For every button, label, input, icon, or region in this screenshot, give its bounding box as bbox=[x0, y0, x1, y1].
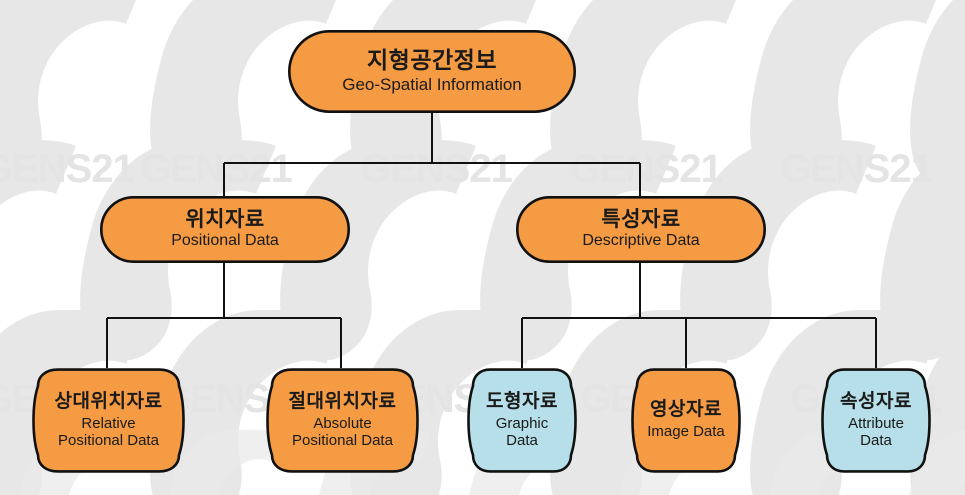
node-label-en: Geo-Spatial Information bbox=[294, 75, 570, 95]
node-graphic-data[interactable]: 도형자료 Graphic Data bbox=[455, 368, 589, 473]
node-label-ko: 위치자료 bbox=[106, 208, 344, 231]
node-label-ko: 영상자료 bbox=[625, 400, 747, 421]
node-label-en: Attribute Data bbox=[815, 415, 937, 450]
node-layer: 지형공간정보 Geo-Spatial Information 위치자료 Posi… bbox=[0, 0, 965, 495]
node-geo-spatial-information[interactable]: 지형공간정보 Geo-Spatial Information bbox=[288, 30, 576, 113]
node-label-en: Positional Data bbox=[106, 232, 344, 251]
node-relative-positional-data[interactable]: 상대위치자료 Relative Positional Data bbox=[16, 368, 201, 473]
node-label-en: Relative Positional Data bbox=[22, 415, 195, 450]
node-label-en: Descriptive Data bbox=[522, 232, 760, 251]
node-absolute-positional-data[interactable]: 절대위치자료 Absolute Positional Data bbox=[250, 368, 435, 473]
node-label-ko: 특성자료 bbox=[522, 208, 760, 231]
node-descriptive-data[interactable]: 특성자료 Descriptive Data bbox=[516, 196, 766, 263]
node-attribute-data[interactable]: 속성자료 Attribute Data bbox=[809, 368, 943, 473]
node-label-ko: 상대위치자료 bbox=[22, 392, 195, 413]
node-label-en: Graphic Data bbox=[461, 415, 583, 450]
geo-spatial-information-hierarchy-diagram: GENS21 GENS21 GENS21 GENS21 GENS21 GENS2… bbox=[0, 0, 965, 495]
node-label-ko: 도형자료 bbox=[461, 392, 583, 413]
node-positional-data[interactable]: 위치자료 Positional Data bbox=[100, 196, 350, 263]
node-image-data[interactable]: 영상자료 Image Data bbox=[619, 368, 753, 473]
node-label-ko: 지형공간정보 bbox=[294, 48, 570, 73]
node-label-ko: 절대위치자료 bbox=[256, 392, 429, 413]
node-label-en: Image Data bbox=[625, 423, 747, 440]
node-label-ko: 속성자료 bbox=[815, 392, 937, 413]
node-label-en: Absolute Positional Data bbox=[256, 415, 429, 450]
